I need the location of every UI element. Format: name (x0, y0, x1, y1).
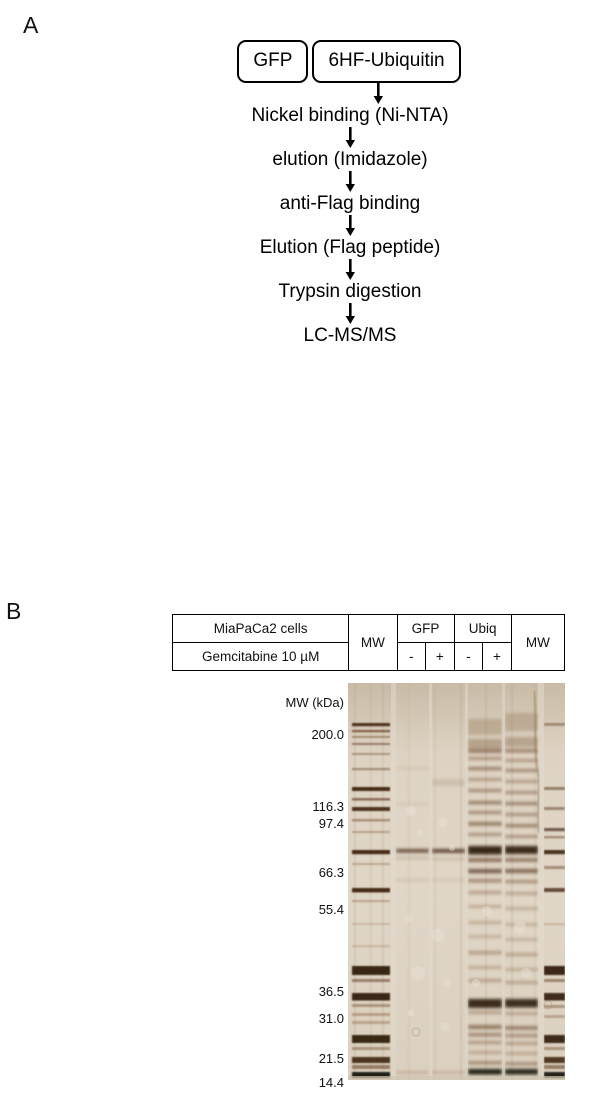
gel-image (348, 683, 565, 1080)
flow-step-elution-flag-peptide: Elution (Flag peptide) (260, 237, 441, 259)
mw-axis-title: MW (kDa) (286, 696, 345, 709)
cell-mw-left: MW (349, 615, 397, 671)
blot-header-table: MiaPaCa2 cells MW GFP Ubiq MW Gemcitabin… (172, 614, 565, 671)
table-row: MiaPaCa2 cells MW GFP Ubiq MW (173, 615, 565, 643)
mw-tick-200: 200.0 (311, 728, 344, 741)
mw-tick-97: 97.4 (319, 817, 344, 830)
mw-tick-31: 31.0 (319, 1012, 344, 1025)
mw-tick-55: 55.4 (319, 903, 344, 916)
down-arrow-icon (343, 127, 357, 149)
workflow-flowchart: GFP 6HF-Ubiquitin Nickel binding (Ni-NTA… (150, 40, 550, 347)
flow-step-nickel-binding: Nickel binding (Ni-NTA) (251, 105, 448, 127)
down-arrow-icon (371, 83, 385, 105)
cell-lane-gfp-minus: - (397, 643, 426, 671)
cell-group-gfp: GFP (397, 615, 454, 643)
flow-step-elution-imidazole: elution (Imidazole) (272, 149, 427, 171)
flow-step-anti-flag-binding: anti-Flag binding (280, 193, 420, 215)
gel-svg (348, 683, 565, 1080)
cell-group-ubiq: Ubiq (454, 615, 511, 643)
mw-tick-14: 14.4 (319, 1076, 344, 1089)
flow-step-lc-ms-ms: LC-MS/MS (304, 325, 397, 347)
down-arrow-icon (343, 215, 357, 237)
down-arrow-icon (343, 303, 357, 325)
cell-lane-gfp-plus: + (426, 643, 455, 671)
down-arrow-icon (343, 259, 357, 281)
flow-step-trypsin-digestion: Trypsin digestion (279, 281, 422, 303)
down-arrow-icon (343, 171, 357, 193)
mw-tick-36: 36.5 (319, 985, 344, 998)
flow-box-gfp: GFP (237, 40, 308, 83)
cell-lane-ubiq-minus: - (454, 643, 483, 671)
panel-a-label: A (23, 12, 38, 39)
mw-tick-21: 21.5 (319, 1052, 344, 1065)
cell-lane-ubiq-plus: + (483, 643, 512, 671)
panel-b-gel-figure: MiaPaCa2 cells MW GFP Ubiq MW Gemcitabin… (0, 600, 600, 1097)
cell-treatment: Gemcitabine 10 µM (173, 643, 349, 671)
cell-cell-line: MiaPaCa2 cells (173, 615, 349, 643)
flow-box-6hf-ubiquitin: 6HF-Ubiquitin (312, 40, 460, 83)
flowchart-input-boxes: GFP 6HF-Ubiquitin (237, 40, 460, 83)
mw-tick-116: 116.3 (312, 800, 344, 813)
cell-mw-right: MW (511, 615, 564, 671)
mw-tick-66: 66.3 (319, 866, 344, 879)
